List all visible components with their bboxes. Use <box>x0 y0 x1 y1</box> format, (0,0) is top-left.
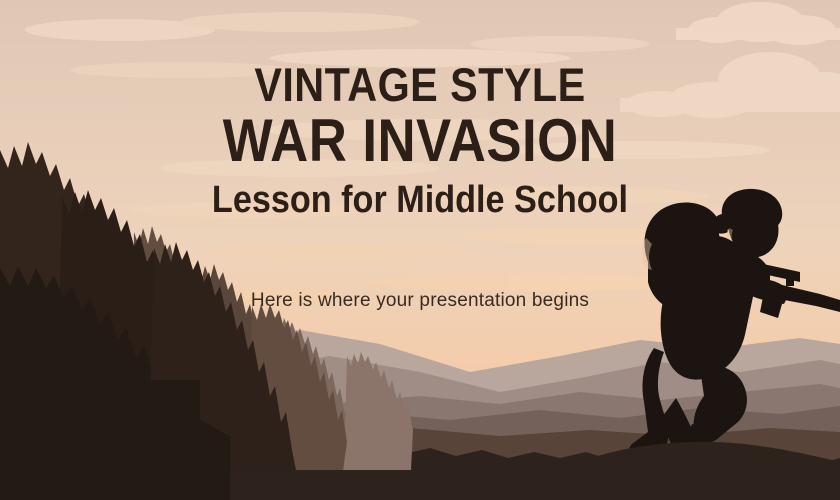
cloud-streak <box>470 36 650 52</box>
cloud-streak <box>410 187 710 205</box>
cloud-streak <box>265 119 595 141</box>
cloud-streak <box>210 244 470 260</box>
cloud-streak <box>130 202 370 218</box>
cloud-streak <box>270 49 570 67</box>
cloud-streak <box>70 62 290 78</box>
cloud-streak <box>160 159 440 177</box>
slide-background-illustration <box>0 0 840 500</box>
presentation-slide: VINTAGE STYLE WAR INVASION Lesson for Mi… <box>0 0 840 500</box>
cloud-streak <box>510 141 770 159</box>
cloud-streak <box>180 12 420 32</box>
